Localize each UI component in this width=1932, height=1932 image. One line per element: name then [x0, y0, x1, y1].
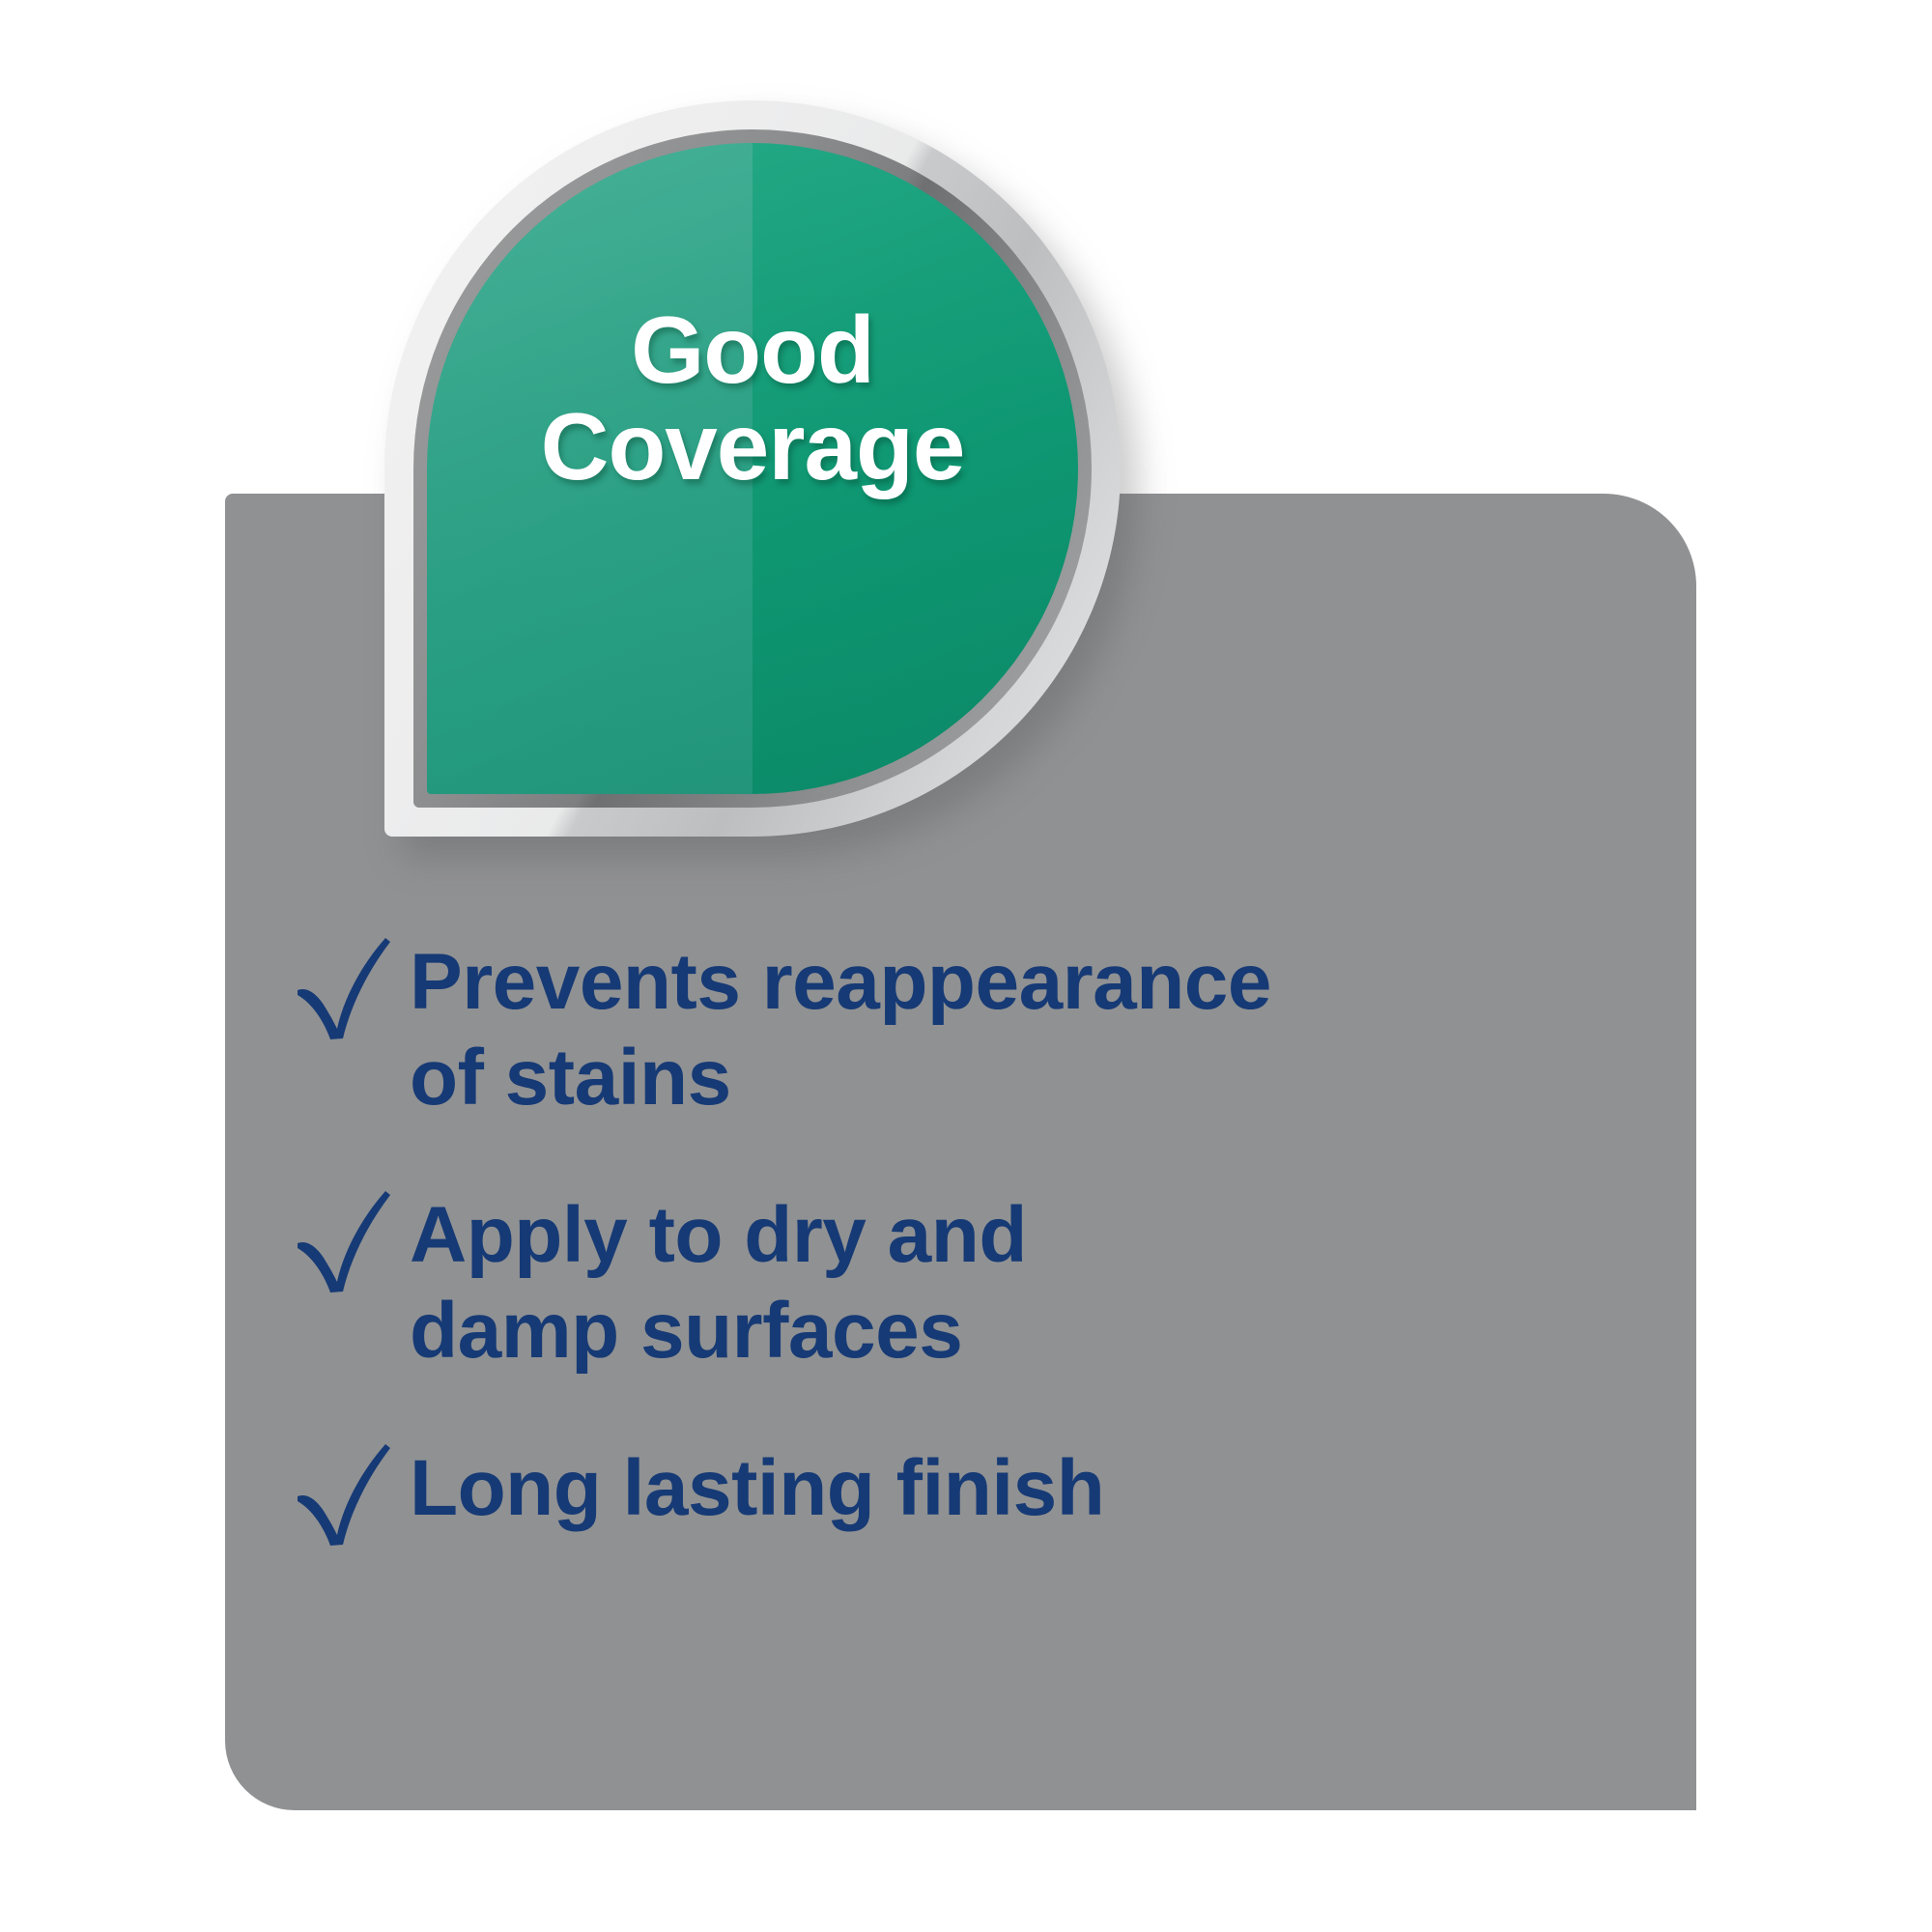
check-icon [290, 1189, 398, 1295]
check-icon [290, 936, 398, 1042]
list-item-label: Prevents reappearance of stains [410, 932, 1271, 1125]
list-item: Prevents reappearance of stains [290, 932, 1662, 1125]
promo-graphic: Good Coverage Prevents reappearance of s… [0, 0, 1932, 1932]
feature-list: Prevents reappearance of stains Apply to… [290, 932, 1662, 1548]
list-item: Apply to dry and damp surfaces [290, 1185, 1662, 1378]
good-coverage-badge: Good Coverage [384, 100, 1157, 873]
list-item-label: Long lasting finish [410, 1438, 1104, 1536]
list-item-label: Apply to dry and damp surfaces [410, 1185, 1027, 1378]
check-icon [290, 1442, 398, 1548]
badge-face-sheen [427, 143, 1078, 794]
badge-face [427, 143, 1078, 794]
list-item: Long lasting finish [290, 1438, 1662, 1548]
